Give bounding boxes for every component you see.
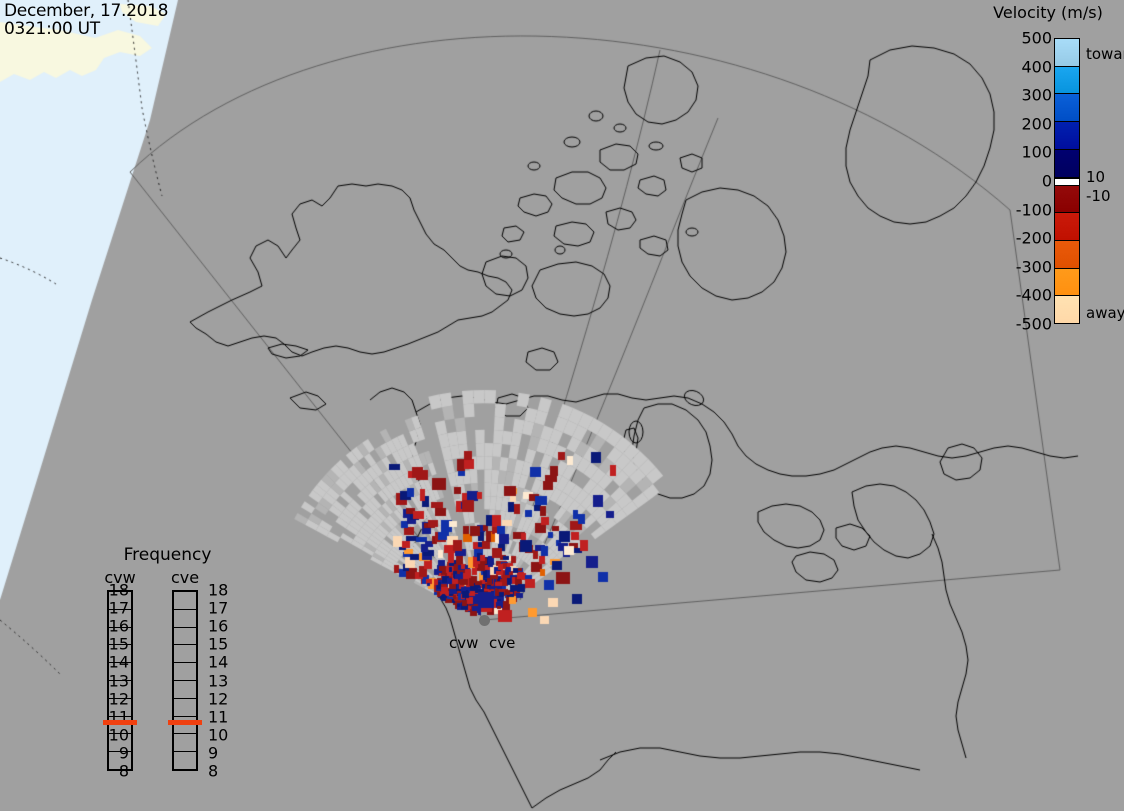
frequency-segment [174,699,196,717]
radar-site-label-cvw: cvw [449,634,478,652]
frequency-segment [174,610,196,628]
colorbar-tick--400: -400 [988,286,1052,305]
frequency-tick-cvw-9: 9 [103,743,129,762]
colorbar-tick--300: -300 [988,257,1052,276]
frequency-tick-cvw-12: 12 [103,689,129,708]
frequency-tick-cve-17: 17 [208,599,234,618]
frequency-legend-panel: Frequency cvwcve181817171616151514141313… [95,545,240,775]
radar-site-label-cve: cve [489,634,515,652]
frequency-tick-cvw-14: 14 [103,653,129,672]
colorbar-cell-toward-0 [1055,39,1079,67]
fan-plot-root: December, 17.2018 0321:00 UT Velocity (m… [0,0,1124,811]
colorbar-cell-toward-4 [1055,150,1079,178]
frequency-tick-cvw-8: 8 [103,762,129,781]
frequency-tick-cve-8: 8 [208,762,234,781]
colorbar-label-near-zero-negative: -10 [1086,187,1111,205]
colorbar-tick-200: 200 [988,114,1052,133]
frequency-tick-cve-18: 18 [208,581,234,600]
frequency-tick-cvw-17: 17 [103,599,129,618]
colorbar-cell-toward-1 [1055,67,1079,95]
frequency-marker-cve [168,720,202,725]
frequency-tick-cve-9: 9 [208,743,234,762]
radar-site-marker [479,615,490,626]
frequency-bar-cve [172,590,198,771]
frequency-segment [174,681,196,699]
frequency-tick-cvw-15: 15 [103,635,129,654]
frequency-title: Frequency [95,545,240,565]
frequency-segment [174,645,196,663]
colorbar-label-away: away [1086,304,1124,322]
colorbar-cell-away-3 [1055,269,1079,297]
frequency-segment [174,628,196,646]
frequency-tick-cve-14: 14 [208,653,234,672]
frequency-tick-cve-10: 10 [208,725,234,744]
frequency-tick-cve-12: 12 [208,689,234,708]
colorbar-tick-100: 100 [988,143,1052,162]
frequency-tick-cvw-18: 18 [103,581,129,600]
frequency-segment [174,663,196,681]
colorbar-label-near-zero-positive: 10 [1086,168,1105,186]
colorbar-tick--200: -200 [988,229,1052,248]
timestamp-time: 0321:00 UT [4,19,100,39]
colorbar-cell-toward-3 [1055,122,1079,150]
colorbar-tick-0: 0 [988,172,1052,191]
frequency-tick-cve-16: 16 [208,617,234,636]
frequency-tick-cvw-10: 10 [103,725,129,744]
timestamp: December, 17.2018 0321:00 UT [4,2,168,38]
colorbar-tick-500: 500 [988,29,1052,48]
colorbar-cell-away-4 [1055,296,1079,323]
timestamp-date: December, 17.2018 [4,1,168,21]
colorbar-cell-away-1 [1055,213,1079,241]
frequency-tick-cvw-16: 16 [103,617,129,636]
frequency-marker-cvw [103,720,137,725]
colorbar-tick--100: -100 [988,200,1052,219]
colorbar-zero-band [1055,178,1079,186]
velocity-colorbar-panel: Velocity (m/s) 5004003002001000-100-200-… [960,2,1124,332]
frequency-segment [174,734,196,752]
colorbar-tick-300: 300 [988,86,1052,105]
colorbar-cell-toward-2 [1055,94,1079,122]
frequency-segment [174,752,196,769]
colorbar-cell-away-0 [1055,186,1079,214]
frequency-tick-cve-15: 15 [208,635,234,654]
frequency-segment [174,592,196,610]
colorbar-tick--500: -500 [988,315,1052,334]
frequency-tick-cve-13: 13 [208,671,234,690]
colorbar-tick-400: 400 [988,57,1052,76]
frequency-column-label-cve: cve [162,568,208,587]
colorbar-gradient [1054,38,1080,324]
frequency-tick-cvw-13: 13 [103,671,129,690]
colorbar-cell-away-2 [1055,241,1079,269]
frequency-tick-cve-11: 11 [208,707,234,726]
colorbar-label-toward: toward [1086,45,1124,63]
colorbar-title: Velocity (m/s) [978,3,1118,22]
